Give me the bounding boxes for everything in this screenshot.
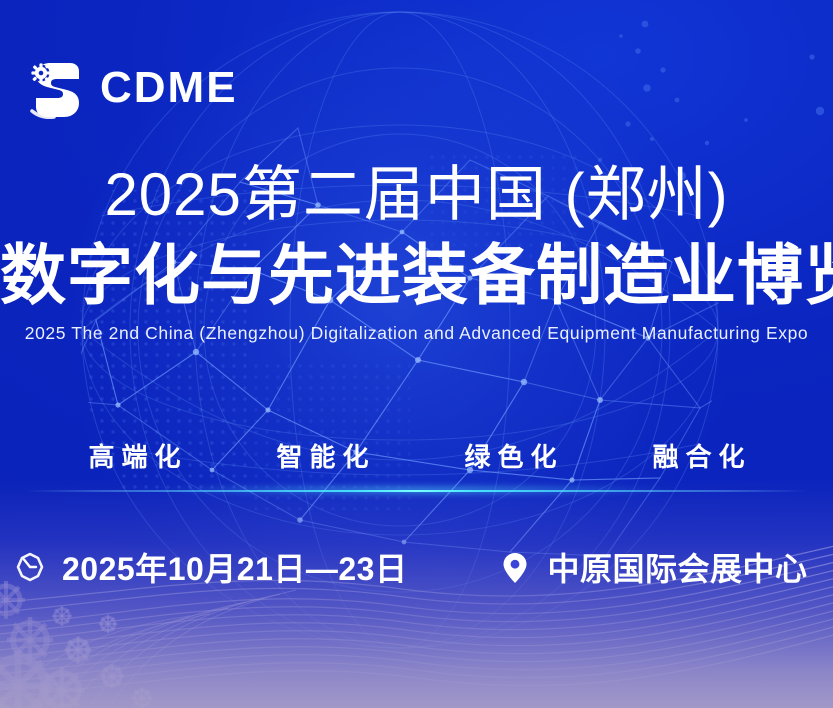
gear-cluster [0, 581, 153, 708]
keyword-list: 高端化 智能化 绿色化 融合化 [0, 437, 833, 474]
event-venue: 中原国际会展中心 [497, 544, 807, 590]
title-block: 2025第二届中国 (郑州) 数字化与先进装备制造业博览会 2025 The 2… [0, 160, 833, 344]
cdme-gear-s-logo-icon [24, 55, 86, 121]
event-info-row: 2025年10月21日—23日 中原国际会展中心 [0, 536, 833, 598]
keyword-item: 高端化 [81, 437, 187, 474]
brand-name: CDME [100, 66, 238, 110]
event-date-text: 2025年10月21日—23日 [62, 544, 407, 590]
location-pin-icon [497, 547, 533, 587]
event-venue-text: 中原国际会展中心 [547, 544, 807, 590]
keyword-item: 绿色化 [458, 437, 564, 474]
clock-icon [12, 547, 48, 587]
title-english: 2025 The 2nd China (Zhengzhou) Digitaliz… [0, 323, 833, 344]
expo-banner: CDME 2025第二届中国 (郑州) 数字化与先进装备制造业博览会 2025 … [0, 0, 833, 708]
keyword-item: 融合化 [646, 437, 752, 474]
title-chinese-line1: 2025第二届中国 (郑州) [0, 160, 833, 231]
brand-logo[interactable]: CDME [24, 55, 238, 121]
event-date: 2025年10月21日—23日 [12, 544, 407, 590]
keyword-item: 智能化 [269, 437, 375, 474]
title-chinese-line2: 数字化与先进装备制造业博览会 [0, 237, 833, 314]
